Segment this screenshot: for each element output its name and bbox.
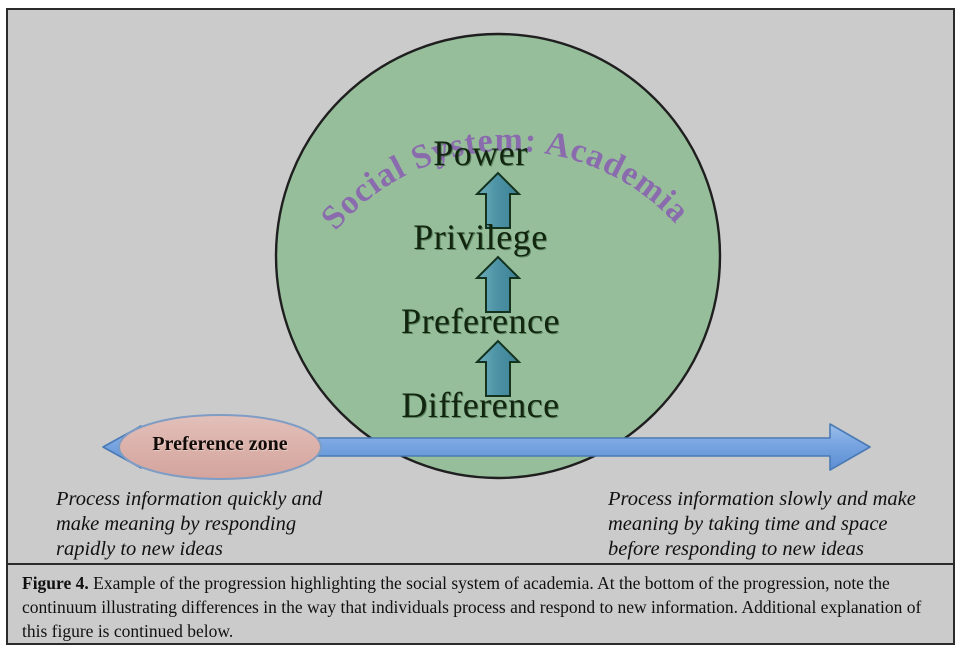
progression-step-power: Power	[8, 132, 953, 174]
figure-caption: Figure 4. Example of the progression hig…	[22, 571, 941, 643]
progression-step-preference: Preference	[8, 300, 953, 342]
figure-caption-label: Figure 4.	[22, 573, 89, 593]
continuum-left-description: Process information quickly and make mea…	[56, 487, 386, 562]
preference-zone-label: Preference zone	[120, 433, 320, 456]
figure-caption-body: Example of the progression highlighting …	[22, 573, 921, 641]
diagram-canvas: Social System: Academia Power Privilege …	[8, 10, 953, 563]
progression-step-difference: Difference	[8, 384, 953, 426]
diagram-svg: Social System: Academia	[8, 10, 953, 563]
progression-step-privilege: Privilege	[8, 216, 953, 258]
figure-container: Social System: Academia Power Privilege …	[6, 8, 955, 645]
continuum-right-description: Process information slowly and make mean…	[608, 487, 953, 562]
figure-caption-bar: Figure 4. Example of the progression hig…	[8, 563, 953, 643]
